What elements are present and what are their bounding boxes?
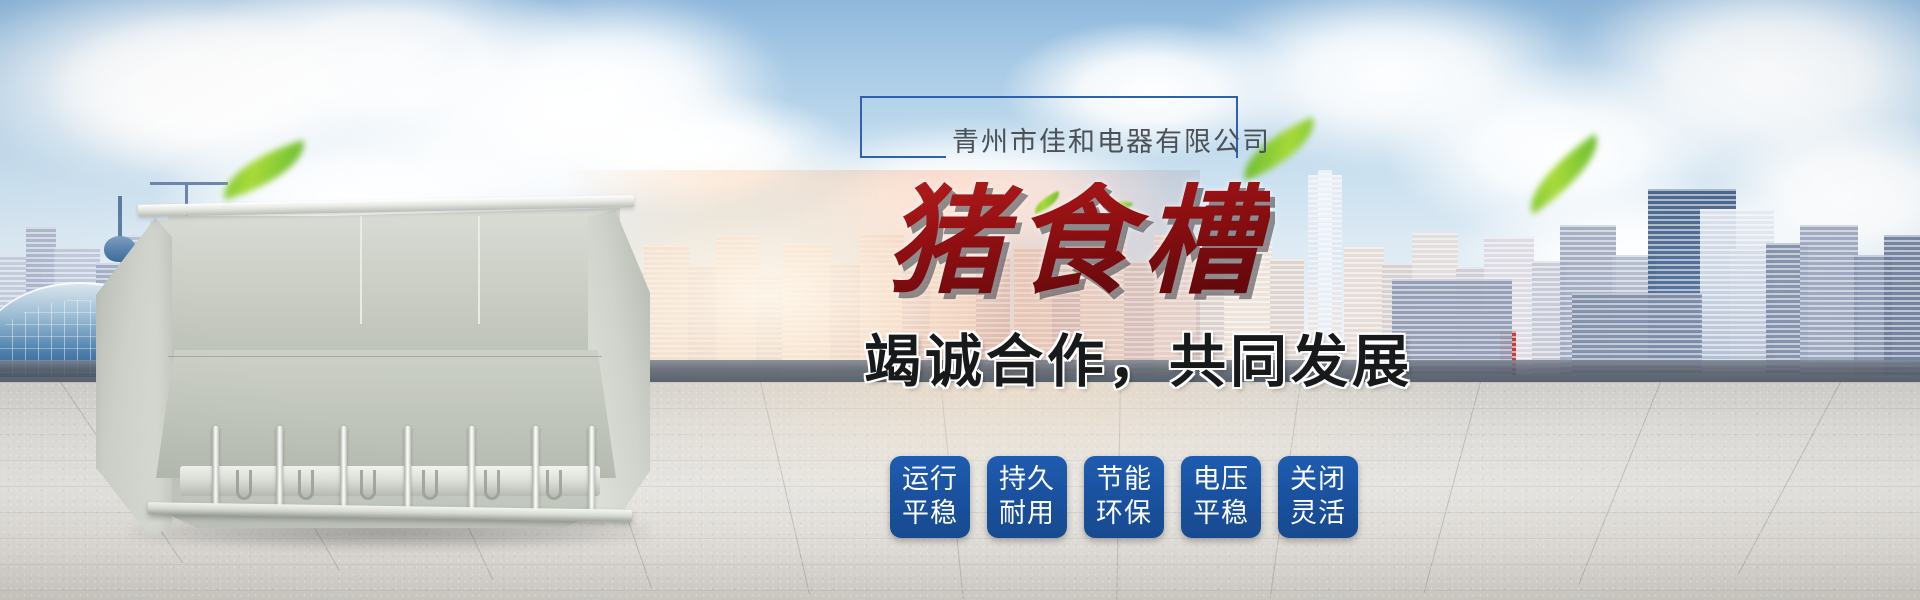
product-image-pig-feeding-trough [60,170,680,570]
feature-badge-5[interactable]: 关闭 灵活 [1278,456,1358,538]
feature-badge-3[interactable]: 节能 环保 [1084,456,1164,538]
feature-badge-list: 运行 平稳 持久 耐用 节能 环保 电压 平稳 关闭 灵活 [890,456,1358,538]
company-name-frame-bottom-stub [860,156,946,158]
feature-badge-4-line1: 电压 [1193,463,1249,497]
feature-badge-4[interactable]: 电压 平稳 [1181,456,1261,538]
company-name: 青州市佳和电器有限公司 [952,120,1271,159]
promo-banner: 青州市佳和电器有限公司 猪食槽 竭诚合作，共同发展 运行 平稳 持久 耐用 节能… [0,0,1920,600]
feature-badge-1-line1: 运行 [902,463,958,497]
feature-badge-4-line2: 平稳 [1193,497,1249,531]
feature-badge-2-line2: 耐用 [999,497,1055,531]
feature-badge-2-line1: 持久 [999,463,1055,497]
feature-badge-3-line2: 环保 [1096,497,1152,531]
feature-badge-5-line1: 关闭 [1290,463,1346,497]
subtitle-slogan: 竭诚合作，共同发展 [864,334,1413,391]
feature-badge-3-line1: 节能 [1096,463,1152,497]
page-title: 猪食槽 [886,182,1270,300]
company-name-frame-left-edge [860,96,862,158]
feature-badge-5-line2: 灵活 [1290,497,1346,531]
feature-badge-1-line2: 平稳 [902,497,958,531]
feature-badge-1[interactable]: 运行 平稳 [890,456,970,538]
feature-badge-2[interactable]: 持久 耐用 [987,456,1067,538]
